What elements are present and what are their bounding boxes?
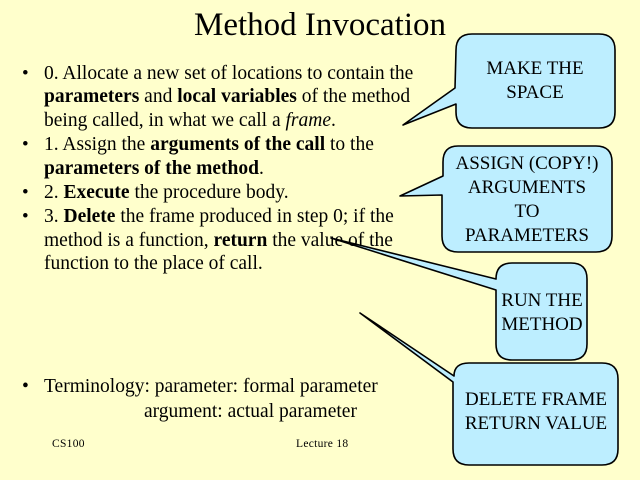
bullet-marker: • [22,62,29,85]
list-item-text: 0. Allocate a new set of locations to co… [44,63,413,131]
list-item: • 2. Execute the procedure body. [14,181,434,204]
list-item-text: 2. Execute the procedure body. [44,182,289,203]
bullet-marker: • [22,205,29,228]
list-item-text: 3. Delete the frame produced in step 0; … [44,206,394,274]
callout-2-line-1: ASSIGN (COPY!) [441,152,613,176]
callout-4-line-2: RETURN VALUE [447,412,625,436]
bullet-marker: • [22,181,29,204]
slide-canvas: Method Invocation • 0. Allocate a new se… [0,0,640,480]
terminology-line-2: argument: actual parameter [44,399,474,424]
terminology-line-1: Terminology: parameter: formal parameter [44,376,378,397]
callout-4-label: DELETE FRAME RETURN VALUE [447,388,625,436]
callout-2-line-2: ARGUMENTS [441,176,613,200]
callout-2-line-3: TO [441,200,613,224]
bullet-marker: • [22,374,29,399]
footer-course-label: CS100 [52,438,85,450]
callout-2-label: ASSIGN (COPY!) ARGUMENTS TO PARAMETERS [441,152,613,248]
footer-lecture-label: Lecture 18 [296,438,349,450]
list-item: • 3. Delete the frame produced in step 0… [14,205,434,275]
list-item-terminology: • Terminology: parameter: formal paramet… [14,374,474,424]
page-title: Method Invocation [0,6,640,44]
callout-1-line-2: SPACE [455,81,615,105]
callout-2-line-4: PARAMETERS [441,224,613,248]
callout-3-line-2: METHOD [470,313,614,337]
bullet-list: • 0. Allocate a new set of locations to … [14,62,434,277]
callout-4-line-1: DELETE FRAME [447,388,625,412]
list-item: • 0. Allocate a new set of locations to … [14,62,434,132]
callout-1-line-1: MAKE THE [455,57,615,81]
list-item: • 1. Assign the arguments of the call to… [14,133,434,180]
callout-3-label: RUN THE METHOD [470,289,614,337]
list-item-text: 1. Assign the arguments of the call to t… [44,134,374,178]
bullet-marker: • [22,133,29,156]
callout-1-label: MAKE THE SPACE [455,57,615,105]
callout-3-line-1: RUN THE [470,289,614,313]
